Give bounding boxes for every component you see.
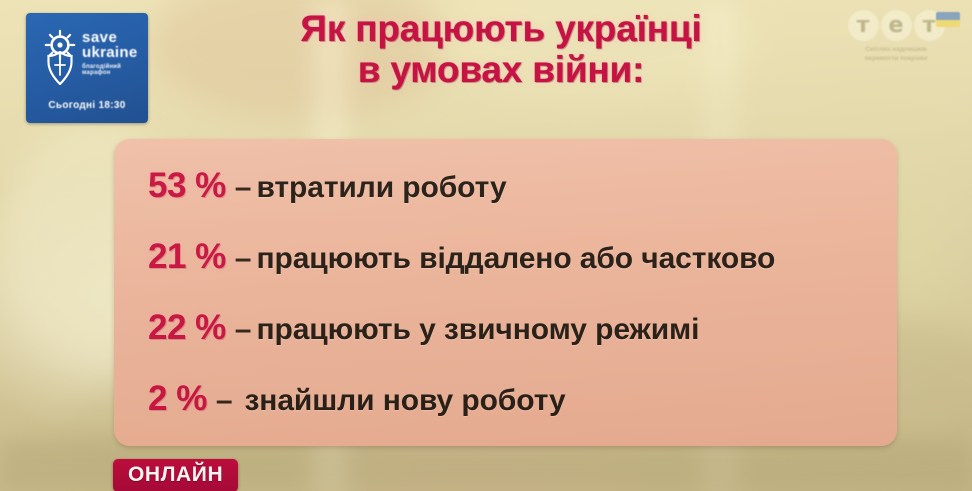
save-ukraine-emblem xyxy=(40,29,82,87)
shield-icon xyxy=(46,51,74,85)
channel-tagline-line1: Світлих надлишків xyxy=(836,46,956,55)
stat-label: втратили роботу xyxy=(256,171,506,205)
channel-tagline: Світлих надлишків перемогти покрови xyxy=(836,46,956,64)
stat-dash: – xyxy=(216,384,233,418)
promo-subtitle-line2: марафон xyxy=(82,70,137,76)
stat-label: працюють віддалено або частково xyxy=(256,242,775,276)
channel-tagline-line2: перемогти покрови xyxy=(836,55,956,64)
statistics-list: 53 % – втратили роботу 21 % – працюють в… xyxy=(148,151,877,434)
save-ukraine-promo-card: save ukraine благодійний марафон Сьогодн… xyxy=(26,13,148,123)
status-badge-online: ОНЛАЙН xyxy=(113,459,238,491)
promo-schedule-time: 18:30 xyxy=(99,100,126,111)
stat-percent: 2 % xyxy=(148,379,207,419)
promo-schedule: Сьогодні 18:30 xyxy=(26,100,148,111)
stat-dash: – xyxy=(235,313,252,347)
promo-name-line1: save xyxy=(82,30,137,45)
headline-line-1: Як працюють українці xyxy=(150,8,852,49)
channel-letter-1: т xyxy=(848,10,879,41)
save-ukraine-wordmark: save ukraine благодійний марафон xyxy=(82,30,137,76)
broadcast-screen: save ukraine благодійний марафон Сьогодн… xyxy=(0,0,972,491)
stat-dash: – xyxy=(235,242,252,276)
stat-label: працюють у звичному режимі xyxy=(256,313,699,347)
flag-blue-stripe xyxy=(936,12,960,20)
stat-dash: – xyxy=(235,171,252,205)
statistics-panel: 53 % – втратили роботу 21 % – працюють в… xyxy=(114,139,897,446)
channel-logo-tet: т е т Світлих надлишків перемогти покров… xyxy=(836,10,956,76)
headline: Як працюють українці в умовах війни: xyxy=(150,8,852,91)
stat-percent: 21 % xyxy=(148,237,226,277)
list-item: 53 % – втратили роботу xyxy=(148,166,877,206)
channel-letter-2: е xyxy=(881,10,912,41)
stat-percent: 53 % xyxy=(148,166,226,206)
promo-name-line2: ukraine xyxy=(82,45,137,60)
flag-yellow-stripe xyxy=(936,20,960,28)
headline-line-2: в умовах війни: xyxy=(150,49,852,90)
promo-schedule-label: Сьогодні xyxy=(48,100,95,111)
ukraine-flag-icon xyxy=(936,12,960,27)
list-item: 22 % – працюють у звичному режимі xyxy=(148,308,877,348)
list-item: 21 % – працюють віддалено або частково xyxy=(148,237,877,277)
list-item: 2 % – знайшли нову роботу xyxy=(148,379,877,419)
stat-label: знайшли нову роботу xyxy=(245,384,566,418)
stat-percent: 22 % xyxy=(148,308,226,348)
